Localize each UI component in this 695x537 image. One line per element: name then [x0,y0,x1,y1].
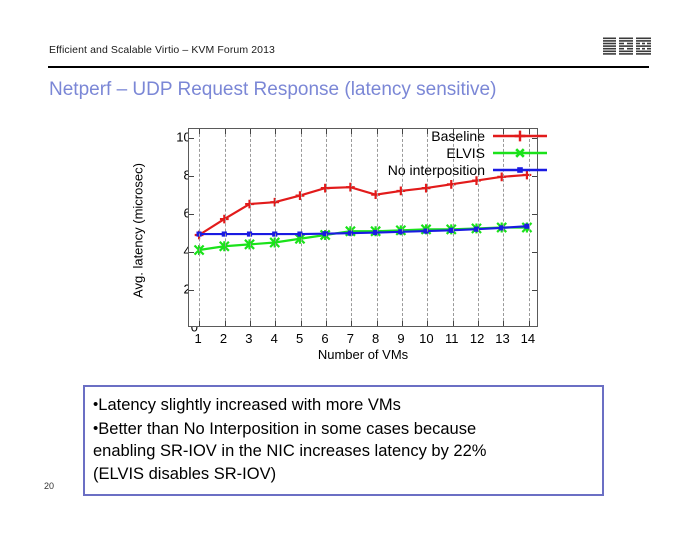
bullet-line-3: enabling SR-IOV in the NIC increases lat… [93,441,592,463]
header-divider [48,66,649,68]
chart-x-tick [351,321,352,326]
chart-x-tick-label: 5 [287,331,313,346]
chart-gridline-x [199,129,200,326]
chart-gridline-x [377,129,378,326]
chart-x-tick [250,321,251,326]
legend-item-elvis: ELVIS [446,145,549,161]
chart-marker [422,184,431,193]
chart-x-tick-label: 3 [236,331,262,346]
chart-x-tick-label: 8 [363,331,389,346]
chart-x-tick [250,129,251,134]
chart-y-axis-label: Avg. latency (microsec) [131,136,146,326]
legend-label-baseline: Baseline [431,128,485,144]
chart-x-tick-label: 2 [211,331,237,346]
chart-marker [447,180,456,189]
legend-item-baseline: Baseline [431,128,549,144]
chart-y-tick [189,138,194,139]
legend-swatch-baseline [491,128,549,144]
chart-x-tick [199,129,200,134]
legend-swatch-elvis [491,145,549,161]
chart-x-tick [377,129,378,134]
legend-label-elvis: ELVIS [446,145,485,161]
bullet-line-2: •Better than No Interposition in some ca… [93,418,592,441]
chart-x-tick [225,321,226,326]
chart-x-tick [275,129,276,134]
chart-x-tick [377,321,378,326]
bullet-text-4: (ELVIS disables SR-IOV) [93,465,276,483]
chart-x-tick [402,321,403,326]
chart-x-tick [453,321,454,326]
chart-gridline-x [301,129,302,326]
legend-swatch-no-interposition [491,162,549,178]
legend-label-no-interposition: No interposition [388,162,485,178]
chart-x-tick-label: 11 [439,331,465,346]
ibm-logo-icon [603,37,651,57]
chart-x-tick [301,129,302,134]
chart-x-tick-label: 4 [261,331,287,346]
chart-x-tick-label: 6 [312,331,338,346]
bullet-text-2: Better than No Interposition in some cas… [98,420,476,438]
chart-x-tick [301,321,302,326]
chart-x-tick [275,321,276,326]
legend-item-no-interposition: No interposition [388,162,549,178]
chart-x-tick-label: 13 [489,331,515,346]
chart-marker [371,190,380,199]
chart-gridline-x [275,129,276,326]
chart-x-tick-label: 1 [185,331,211,346]
slide-header-text: Efficient and Scalable Virtio – KVM Foru… [49,44,275,56]
chart-y-tick [532,252,537,253]
chart-x-tick [427,321,428,326]
chart-x-tick-label: 14 [515,331,541,346]
page-number: 20 [44,481,54,491]
chart-x-tick [199,321,200,326]
chart-gridline-x [225,129,226,326]
chart-gridline-x [326,129,327,326]
chart-x-tick [529,321,530,326]
chart-x-tick-label: 12 [464,331,490,346]
chart-marker [396,187,405,196]
chart-y-tick [189,176,194,177]
bullet-line-4: (ELVIS disables SR-IOV) [93,464,592,486]
chart-gridline-x [250,129,251,326]
chart-x-tick-label: 7 [337,331,363,346]
slide-canvas: Efficient and Scalable Virtio – KVM Foru… [0,0,695,537]
chart-x-tick [326,321,327,326]
page-title: Netperf – UDP Request Response (latency … [49,79,496,101]
bullet-line-1: •Latency slightly increased with more VM… [93,394,592,417]
chart-x-tick [503,321,504,326]
chart-x-tick [225,129,226,134]
chart-legend: Baseline ELVIS No interposition [388,128,549,178]
chart-y-tick [532,290,537,291]
chart-gridline-x [351,129,352,326]
chart-x-tick-label: 10 [413,331,439,346]
chart-x-tick [351,129,352,134]
chart-x-tick [326,129,327,134]
bullet-text-1: Latency slightly increased with more VMs [98,396,401,414]
chart-y-tick [532,214,537,215]
bullet-text-3: enabling SR-IOV in the NIC increases lat… [93,442,486,460]
chart-x-tick-label: 9 [388,331,414,346]
chart-x-tick [478,321,479,326]
chart-y-tick [189,252,194,253]
chart-y-tick [189,214,194,215]
latency-line-chart: Avg. latency (microsec) Number of VMs 02… [105,125,555,370]
summary-text-box: •Latency slightly increased with more VM… [83,385,604,496]
chart-y-tick [189,290,194,291]
chart-x-axis-label: Number of VMs [188,347,538,362]
